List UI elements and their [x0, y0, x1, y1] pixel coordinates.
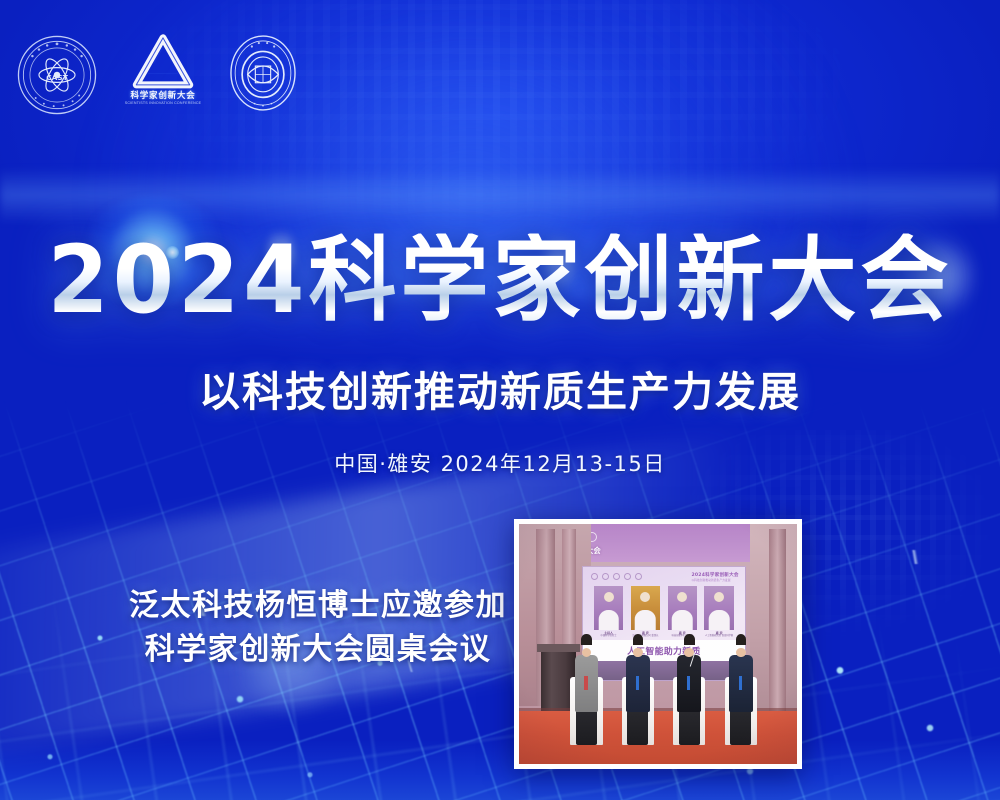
logo-row: CAST 科学家创新大会 SCIENTISTS INNOVATION CONFE… — [16, 34, 302, 116]
hero-text-block: 2024科学家创新大会 以科技创新推动新质生产力发展 中国·雄安 2024年12… — [0, 236, 1000, 478]
panelist-hair — [581, 634, 591, 645]
panelist — [569, 620, 604, 745]
page-title: 2024科学家创新大会 — [0, 233, 1000, 326]
panelist-head — [736, 648, 746, 658]
photo-panelists — [569, 620, 775, 745]
svg-text:CAST: CAST — [46, 73, 67, 82]
panelist-hair — [633, 634, 643, 645]
screen-delta-icon — [624, 573, 631, 580]
roundtable-conference-photo: 2024科学家创新大会 2024科学家创新大会 以科技创新推动新质生产力发展 — [514, 519, 802, 769]
screen-triangle-icon — [602, 573, 609, 580]
screen-circle-icon — [591, 573, 598, 580]
screen-icon-row — [591, 573, 642, 580]
panelist-badge — [739, 676, 742, 690]
triangle-logo: 科学家创新大会 SCIENTISTS INNOVATION CONFERENCE — [120, 34, 206, 105]
screen-brand: 2024科学家创新大会 以科技创新推动新质生产力发展 — [692, 572, 739, 582]
cast-seal-logo: CAST — [16, 34, 98, 116]
panelist — [672, 620, 707, 745]
photo-caption: 泛太科技杨恒博士应邀参加 科学家创新大会圆桌会议 — [128, 584, 508, 671]
screen-ring-icon — [613, 573, 620, 580]
panelist-badge — [636, 676, 639, 690]
caption-line-2: 科学家创新大会圆桌会议 — [128, 628, 508, 672]
panelist-badge — [584, 676, 587, 690]
caption-line-1: 泛太科技杨恒博士应邀参加 — [128, 584, 508, 628]
conference-poster: CAST 科学家创新大会 SCIENTISTS INNOVATION CONFE… — [0, 0, 1000, 800]
screen-brand-sub: 以科技创新推动新质生产力发展 — [692, 578, 739, 582]
screen-dot-icon — [635, 573, 642, 580]
hero-subtitle: 以科技创新推动新质生产力发展 — [0, 358, 1000, 418]
triangle-logo-caption: 科学家创新大会 — [120, 91, 206, 100]
hero-location-date: 中国·雄安 2024年12月13-15日 — [0, 448, 1000, 478]
oval-institute-logo — [228, 34, 302, 112]
panelist — [723, 620, 758, 745]
panelist — [620, 620, 655, 745]
panelist-hair — [736, 634, 746, 645]
photo-content: 2024科学家创新大会 2024科学家创新大会 以科技创新推动新质生产力发展 — [519, 524, 797, 764]
triangle-logo-subcaption: SCIENTISTS INNOVATION CONFERENCE — [120, 101, 206, 105]
background-bottom-glow — [0, 740, 1000, 800]
panelist-badge — [687, 676, 690, 690]
background-highlight-strip — [0, 168, 1000, 224]
panelist-hair — [684, 634, 694, 645]
